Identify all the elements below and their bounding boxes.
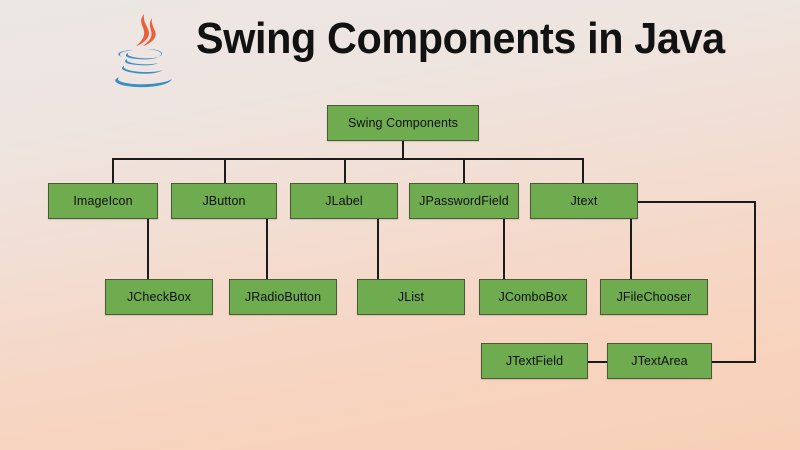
connector-bus-to-jbutton bbox=[224, 158, 226, 183]
connector-jtext-right-out bbox=[638, 201, 756, 203]
connector-bus-to-imageicon bbox=[112, 158, 114, 183]
connector-into-jtextarea bbox=[711, 361, 756, 363]
connector-imageicon-to-jcheckbox bbox=[147, 218, 149, 280]
node-jradiobutton[interactable]: JRadioButton bbox=[229, 279, 337, 315]
node-jcombobox[interactable]: JComboBox bbox=[479, 279, 587, 315]
connector-bus-to-jtext bbox=[582, 158, 584, 183]
node-label: JRadioButton bbox=[245, 290, 321, 304]
connector-jtextfield-to-jtextarea bbox=[587, 361, 608, 363]
node-label: JList bbox=[398, 290, 424, 304]
connector-root-stem bbox=[402, 141, 404, 159]
node-label: JTextField bbox=[506, 354, 563, 368]
node-label: ImageIcon bbox=[73, 194, 132, 208]
node-jfilechooser[interactable]: JFileChooser bbox=[600, 279, 708, 315]
swing-components-tree-diagram: Swing Components ImageIcon JButton JLabe… bbox=[0, 0, 800, 450]
connector-jpasswordfield-to-jcombobox bbox=[503, 218, 505, 280]
node-jlist[interactable]: JList bbox=[357, 279, 465, 315]
node-jpasswordfield[interactable]: JPasswordField bbox=[409, 183, 519, 219]
node-jtext[interactable]: Jtext bbox=[530, 183, 638, 219]
node-imageicon[interactable]: ImageIcon bbox=[48, 183, 158, 219]
connector-jlabel-to-jlist bbox=[377, 218, 379, 280]
connector-jbutton-to-jradiobutton bbox=[266, 218, 268, 280]
node-jtextfield[interactable]: JTextField bbox=[481, 343, 588, 379]
connector-jtext-to-jfilechooser bbox=[630, 218, 632, 280]
node-label: Jtext bbox=[571, 194, 598, 208]
node-jcheckbox[interactable]: JCheckBox bbox=[105, 279, 213, 315]
connector-bus-to-jlabel bbox=[344, 158, 346, 183]
node-jbutton[interactable]: JButton bbox=[171, 183, 277, 219]
node-label: JButton bbox=[202, 194, 245, 208]
node-jtextarea[interactable]: JTextArea bbox=[607, 343, 712, 379]
node-label: JFileChooser bbox=[617, 290, 692, 304]
node-label: JCheckBox bbox=[127, 290, 191, 304]
node-label: JTextArea bbox=[631, 354, 687, 368]
slide-canvas: Swing Components in Java Swing Component… bbox=[0, 0, 800, 450]
node-label: JLabel bbox=[325, 194, 362, 208]
connector-level1-bus bbox=[113, 158, 583, 160]
node-swing-components[interactable]: Swing Components bbox=[327, 105, 479, 141]
connector-bus-to-jpasswordfield bbox=[463, 158, 465, 183]
node-jlabel[interactable]: JLabel bbox=[290, 183, 398, 219]
node-label: Swing Components bbox=[348, 116, 458, 130]
node-label: JPasswordField bbox=[419, 194, 509, 208]
node-label: JComboBox bbox=[499, 290, 568, 304]
connector-jtext-right-down bbox=[754, 201, 756, 363]
